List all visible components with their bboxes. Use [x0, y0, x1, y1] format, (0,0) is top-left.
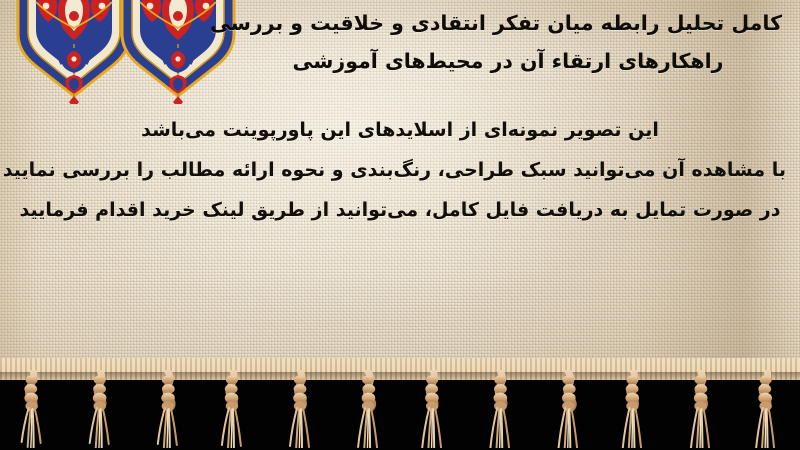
slide-canvas: کامل تحلیل رابطه میان تفکر انتقادی و خلا… — [0, 0, 800, 450]
fringe-tassel — [85, 370, 115, 448]
title-line-2: راهکارهای ارتقاء آن در محیط‌های آموزشی — [234, 42, 782, 80]
fringe-tassel — [485, 370, 515, 448]
selvedge-shadow — [0, 372, 800, 382]
slide-title: کامل تحلیل رابطه میان تفکر انتقادی و خلا… — [234, 4, 782, 80]
body-line-2: با مشاهده آن می‌توانید سبک طراحی، رنگ‌بن… — [14, 150, 786, 190]
fringe-tassel — [218, 370, 248, 448]
fringe-tassel — [618, 370, 648, 448]
slide-body: این تصویر نمونه‌ای از اسلایدهای این پاور… — [14, 110, 786, 230]
carpet-medallion-left-icon — [16, 0, 132, 104]
fringe-tassel — [752, 370, 782, 448]
body-line-3: در صورت تمایل به دریافت فایل کامل، می‌تو… — [14, 190, 786, 230]
body-line-1: این تصویر نمونه‌ای از اسلایدهای این پاور… — [14, 110, 786, 150]
fringe-tassel — [685, 370, 715, 448]
fringe-tassel — [552, 370, 582, 448]
fringe-tassel — [352, 370, 382, 448]
fringe-tassel — [285, 370, 315, 448]
fringe-background — [0, 374, 800, 450]
fringe-tassel — [18, 370, 48, 448]
title-line-1: کامل تحلیل رابطه میان تفکر انتقادی و خلا… — [234, 4, 782, 42]
fringe-tassel — [418, 370, 448, 448]
fringe-tassel — [152, 370, 182, 448]
